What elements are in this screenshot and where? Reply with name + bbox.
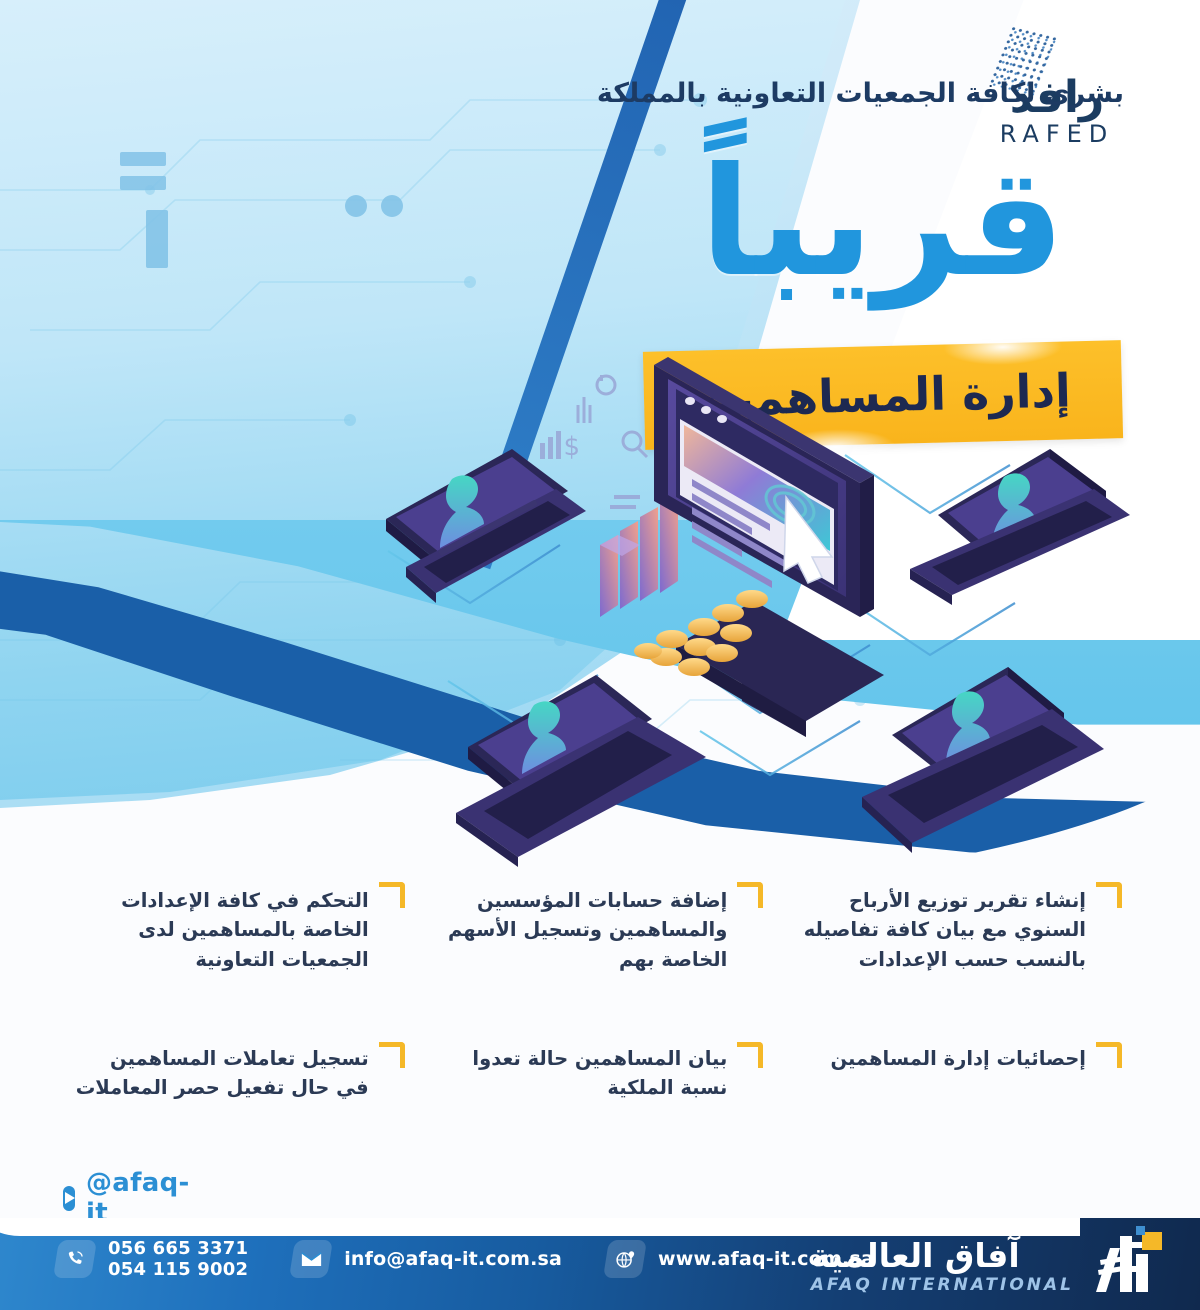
phone-icon: [53, 1240, 97, 1278]
afaq-company-latin: AFAQ INTERNATIONAL: [811, 1277, 1074, 1294]
afaq-logo: آفاق العالمية AFAQ INTERNATIONAL: [811, 1226, 1172, 1300]
page-title: قريباً: [700, 148, 1065, 298]
feature-item-1: التحكم في كافة الإعدادات الخاصة بالمساهم…: [62, 880, 421, 974]
laptop-bottom-left: [456, 675, 706, 867]
feature-row-1: التحكم في كافة الإعدادات الخاصة بالمساهم…: [0, 880, 1200, 974]
feature-item-2: إضافة حسابات المؤسسين والمساهمين وتسجيل …: [421, 880, 780, 974]
contact-email[interactable]: info@afaq-it.com.sa: [292, 1240, 562, 1278]
corner-bracket-icon: [737, 1042, 763, 1068]
feature-row-2: تسجيل تعاملات المساهمين في حال تفعيل حصر…: [0, 1040, 1200, 1103]
corner-bracket-icon: [1096, 1042, 1122, 1068]
afaq-company-arabic: آفاق العالمية: [811, 1239, 1020, 1272]
isometric-illustration: $: [0, 345, 1200, 885]
globe-pin-icon: [603, 1240, 647, 1278]
afaq-logo-mark: [1086, 1226, 1172, 1300]
laptop-top-left: [386, 449, 586, 603]
youtube-icon[interactable]: [63, 1186, 75, 1211]
footer-bar: 056 665 3371 054 115 9002 info@afaq-it.c…: [0, 1218, 1200, 1310]
corner-bracket-icon: [737, 882, 763, 908]
tagline: بشرى لكافة الجمعيات التعاونية بالمملكة: [597, 78, 1124, 109]
feature-item-3: إنشاء تقرير توزيع الأرباح السنوي مع بيان…: [779, 880, 1138, 974]
phone-line-1: 056 665 3371: [108, 1238, 248, 1259]
corner-bracket-icon: [1096, 882, 1122, 908]
feature-text-5: بيان المساهمين حالة تعدوا نسبة الملكية: [431, 1044, 728, 1103]
contact-list: 056 665 3371 054 115 9002 info@afaq-it.c…: [56, 1238, 874, 1280]
laptop-bottom-right: [862, 667, 1104, 853]
email-text: info@afaq-it.com.sa: [344, 1248, 562, 1270]
contact-phone[interactable]: 056 665 3371 054 115 9002: [56, 1238, 248, 1280]
afaq-logo-words: آفاق العالمية AFAQ INTERNATIONAL: [811, 1239, 1074, 1300]
feature-text-1: التحكم في كافة الإعدادات الخاصة بالمساهم…: [72, 886, 369, 974]
feature-text-4: تسجيل تعاملات المساهمين في حال تفعيل حصر…: [72, 1044, 369, 1103]
phone-line-2: 054 115 9002: [108, 1259, 248, 1280]
svg-text:$: $: [563, 432, 580, 462]
corner-bracket-icon: [379, 1042, 405, 1068]
poster-root: رافد RAFED بشرى لكافة الجمعيات التعاونية…: [0, 0, 1200, 1310]
envelope-icon: [289, 1240, 333, 1278]
corner-bracket-icon: [379, 882, 405, 908]
feature-item-6: إحصائيات إدارة المساهمين: [779, 1040, 1138, 1103]
bar-chart-decoration: [600, 493, 678, 617]
feature-item-5: بيان المساهمين حالة تعدوا نسبة الملكية: [421, 1040, 780, 1103]
laptop-top-right: [910, 449, 1130, 605]
phone-numbers: 056 665 3371 054 115 9002: [108, 1238, 248, 1280]
feature-item-4: تسجيل تعاملات المساهمين في حال تفعيل حصر…: [62, 1040, 421, 1103]
feature-text-6: إحصائيات إدارة المساهمين: [789, 1044, 1086, 1073]
feature-text-2: إضافة حسابات المؤسسين والمساهمين وتسجيل …: [431, 886, 728, 974]
feature-text-3: إنشاء تقرير توزيع الأرباح السنوي مع بيان…: [789, 886, 1086, 974]
